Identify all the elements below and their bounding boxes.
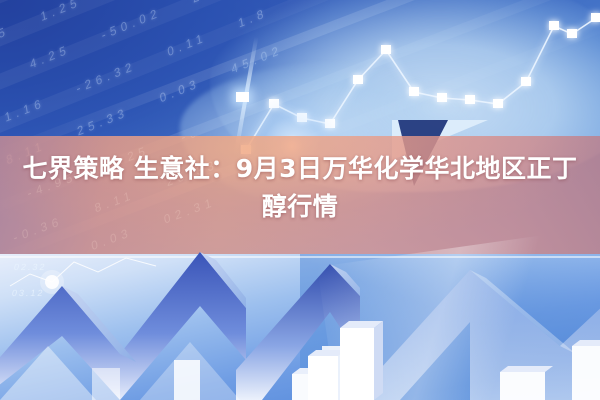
news-banner: -0.35+45.0221.03-11.25-0.36 -0.33-11.25+… [0,0,600,400]
bar-group [92,321,600,400]
flare-node-icon [236,92,249,102]
white-bar-chart [0,250,600,400]
title-line-2: 醇行情 [0,188,600,226]
banner-title: 七界策略 生意社：9月3日万华化学华北地区正丁 醇行情 [0,150,600,226]
title-line-1: 七界策略 生意社：9月3日万华化学华北地区正丁 [0,150,600,188]
